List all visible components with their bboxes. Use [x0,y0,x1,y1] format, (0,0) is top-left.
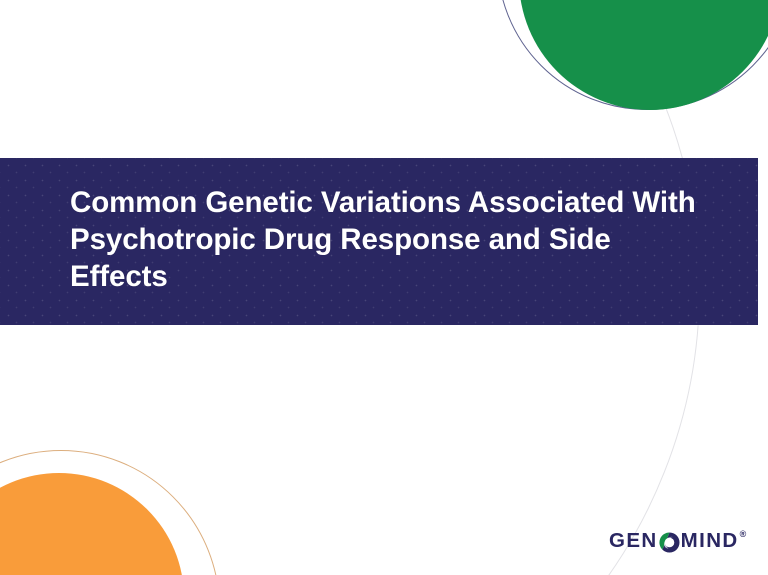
title-band: Common Genetic Variations Associated Wit… [0,158,758,325]
slide-canvas: Common Genetic Variations Associated Wit… [0,0,768,575]
genomind-logo: GEN MIND ® [609,528,745,554]
genomind-logo-text-before: GEN [609,531,658,552]
genomind-logo-text-after: MIND [681,531,739,552]
orange-circle-outline-decoration [0,450,220,575]
slide-title: Common Genetic Variations Associated Wit… [70,184,738,295]
genomind-circle-mark-icon [659,532,680,553]
registered-trademark-icon: ® [740,530,747,539]
orange-circle-decoration [0,473,184,575]
green-circle-outline-decoration [497,0,768,110]
green-circle-decoration [519,0,768,110]
